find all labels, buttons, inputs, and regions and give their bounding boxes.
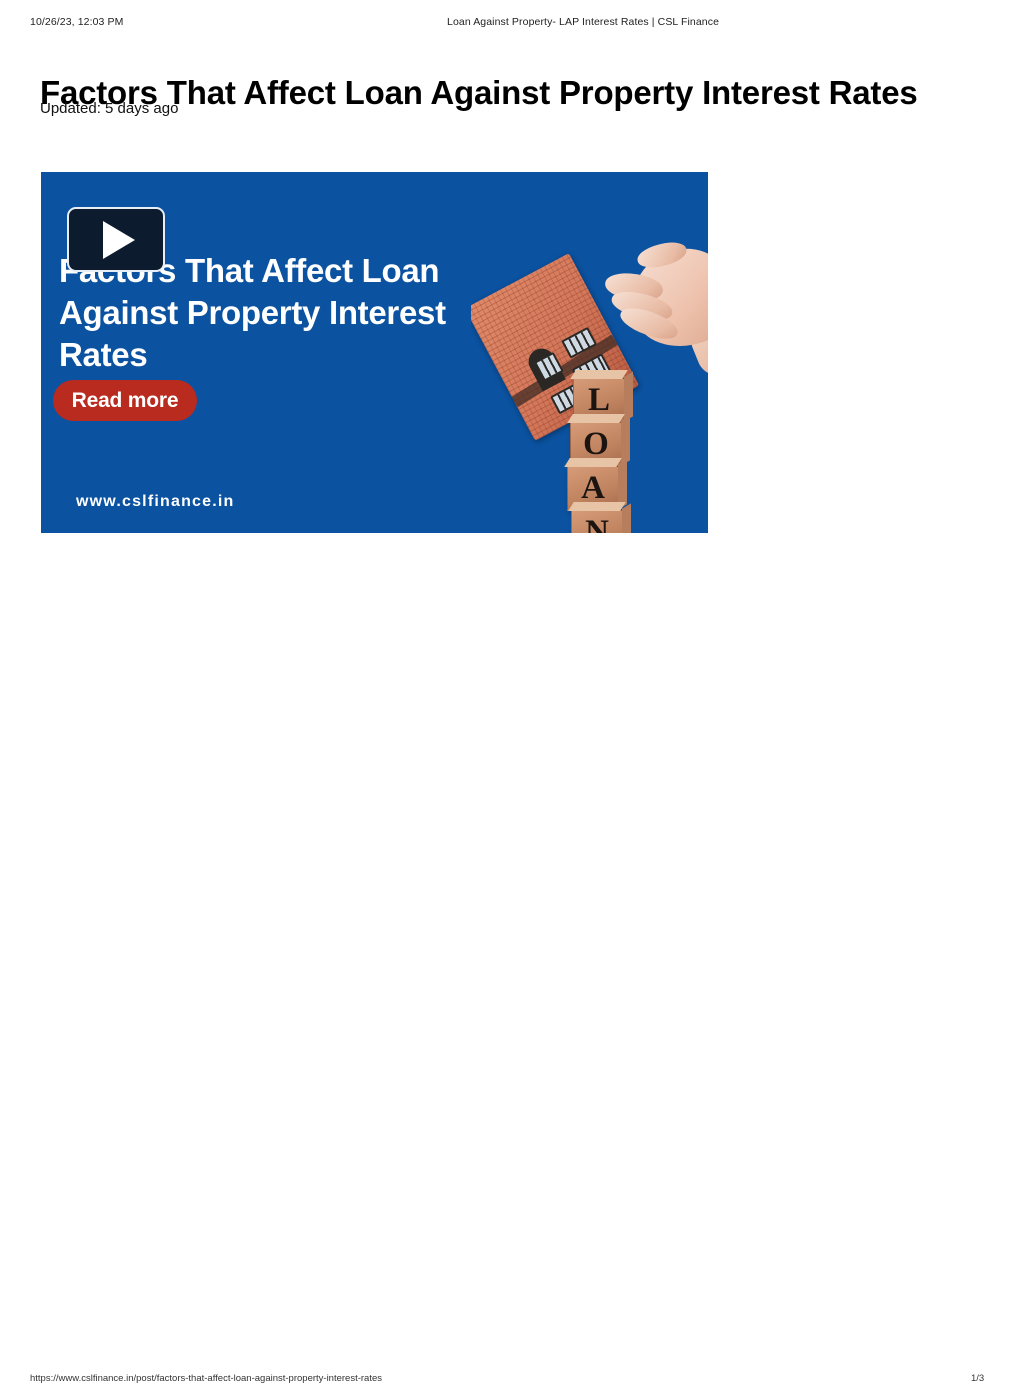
print-header-datetime: 10/26/23, 12:03 PM bbox=[30, 16, 123, 28]
print-header: 10/26/23, 12:03 PM Loan Against Property… bbox=[0, 0, 1018, 40]
block-letter: N bbox=[585, 514, 609, 533]
block-top-face bbox=[570, 370, 628, 379]
block-side-face bbox=[624, 371, 633, 421]
play-button[interactable] bbox=[67, 207, 165, 272]
banner-photo-composition: L O A N bbox=[471, 172, 708, 533]
footer-page-number: 1/3 bbox=[971, 1373, 984, 1384]
play-triangle-icon bbox=[103, 221, 135, 259]
block-side-face bbox=[622, 503, 631, 533]
print-footer: https://www.cslfinance.in/post/factors-t… bbox=[0, 680, 1018, 720]
read-more-button[interactable]: Read more bbox=[53, 380, 197, 421]
block-top-face bbox=[564, 458, 622, 467]
block-side-face bbox=[621, 415, 630, 465]
loan-block: N bbox=[571, 510, 623, 533]
loan-block-stack: L O A N bbox=[567, 378, 631, 533]
block-top-face bbox=[568, 502, 626, 511]
block-top-face bbox=[567, 414, 625, 423]
banner-website-url: www.cslfinance.in bbox=[76, 493, 235, 511]
print-header-document-title: Loan Against Property- LAP Interest Rate… bbox=[447, 16, 719, 28]
hand-holding-tile bbox=[589, 222, 708, 372]
footer-source-url: https://www.cslfinance.in/post/factors-t… bbox=[30, 1373, 382, 1384]
last-updated-text: Updated: 5 days ago bbox=[40, 100, 178, 117]
video-thumbnail-banner[interactable]: Factors That Affect Loan Against Propert… bbox=[41, 172, 708, 533]
